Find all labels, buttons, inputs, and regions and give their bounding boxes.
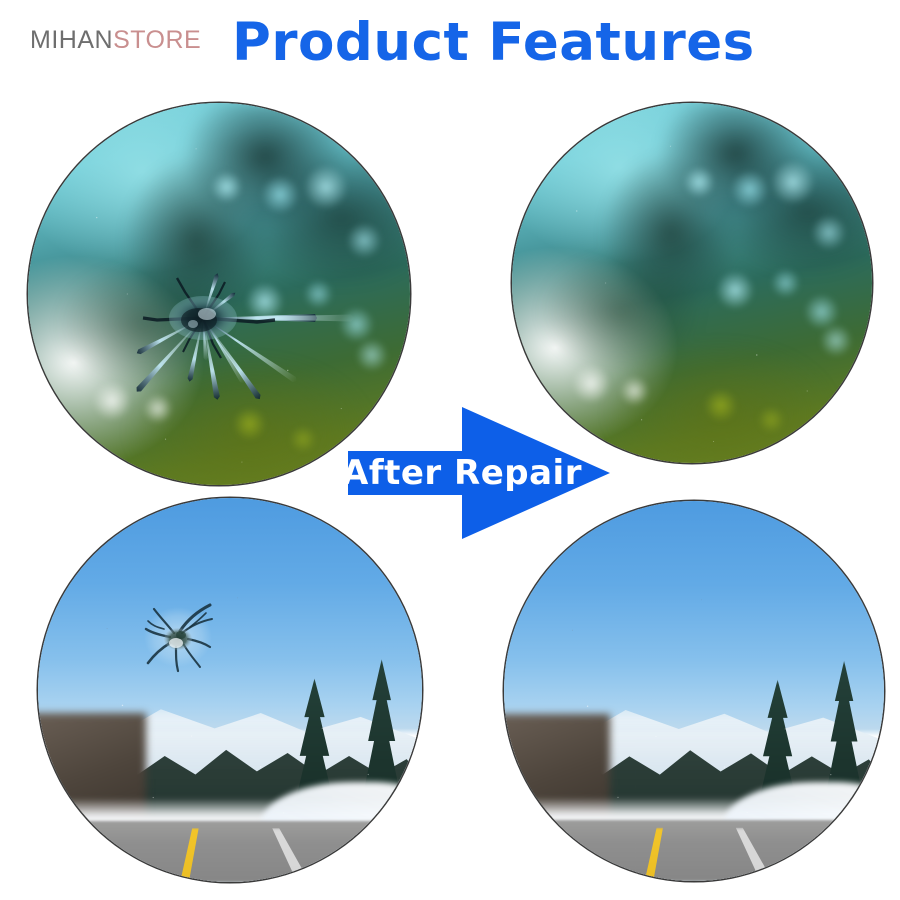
after-repair-arrow: After Repair: [346, 405, 612, 541]
brand-logo: MIHANSTORE: [30, 26, 201, 55]
arrow-right-icon: [346, 405, 612, 541]
road-dust-specks: [504, 501, 884, 881]
brand-logo-secondary: STORE: [113, 26, 201, 54]
brand-logo-primary: MIHAN: [30, 26, 113, 54]
photo-before-winter-road: [38, 498, 422, 882]
road-dust-specks: [38, 498, 422, 882]
page-title: Product Features: [232, 16, 755, 69]
product-feature-banner: MIHANSTORE Product Features: [0, 0, 900, 900]
photo-after-winter-road: [504, 501, 884, 881]
